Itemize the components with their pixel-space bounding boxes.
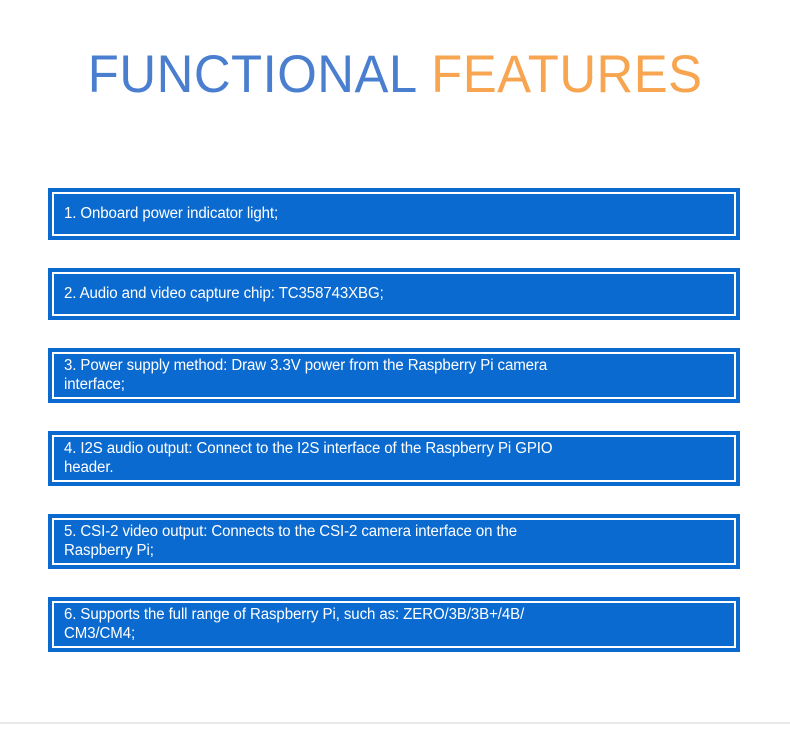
page-title-text: FUNCTIONALFEATURES [88, 48, 703, 101]
feature-page: FUNCTIONALFEATURES 1. Onboard power indi… [0, 0, 790, 732]
feature-item-3: 3. Power supply method: Draw 3.3V power … [48, 348, 740, 403]
feature-item-2-label: 2. Audio and video capture chip: TC35874… [64, 284, 384, 303]
feature-item-3-label: 3. Power supply method: Draw 3.3V power … [64, 356, 547, 394]
feature-item-1-label: 1. Onboard power indicator light; [64, 204, 278, 223]
feature-item-6: 6. Supports the full range of Raspberry … [48, 597, 740, 652]
feature-item-1-inner: 1. Onboard power indicator light; [52, 192, 736, 236]
feature-item-1: 1. Onboard power indicator light; [48, 188, 740, 240]
page-title: FUNCTIONALFEATURES [0, 48, 790, 101]
feature-item-5-label: 5. CSI-2 video output: Connects to the C… [64, 522, 517, 560]
feature-item-2-inner: 2. Audio and video capture chip: TC35874… [52, 272, 736, 316]
feature-item-6-label: 6. Supports the full range of Raspberry … [64, 605, 524, 643]
feature-item-5: 5. CSI-2 video output: Connects to the C… [48, 514, 740, 569]
feature-item-3-inner: 3. Power supply method: Draw 3.3V power … [52, 352, 736, 399]
feature-list: 1. Onboard power indicator light; 2. Aud… [48, 188, 740, 652]
page-title-primary: FUNCTIONAL [88, 45, 418, 104]
feature-item-4: 4. I2S audio output: Connect to the I2S … [48, 431, 740, 486]
feature-item-2: 2. Audio and video capture chip: TC35874… [48, 268, 740, 320]
feature-item-4-inner: 4. I2S audio output: Connect to the I2S … [52, 435, 736, 482]
feature-item-6-inner: 6. Supports the full range of Raspberry … [52, 601, 736, 648]
feature-item-5-inner: 5. CSI-2 video output: Connects to the C… [52, 518, 736, 565]
bottom-divider [0, 722, 790, 724]
feature-item-4-label: 4. I2S audio output: Connect to the I2S … [64, 439, 552, 477]
page-title-accent: FEATURES [431, 45, 702, 104]
